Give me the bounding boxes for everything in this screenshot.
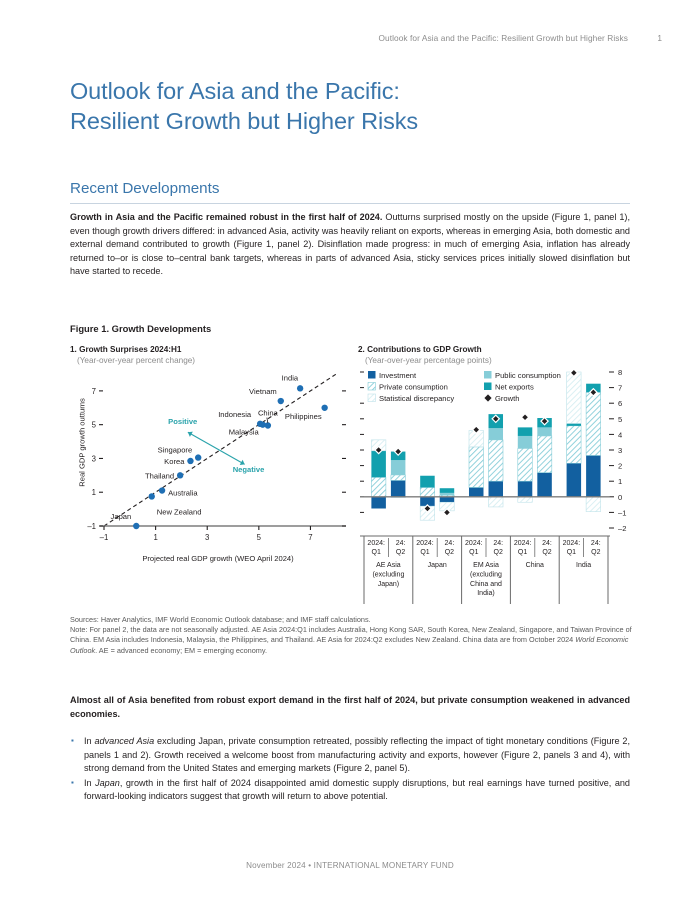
bar-segment [518, 497, 533, 502]
axis-period-label: 24: [542, 540, 552, 547]
svg-text:–2: –2 [618, 524, 626, 533]
axis-group-label: Japan [428, 562, 447, 569]
bar-segment [518, 481, 533, 497]
axis-group-label: India [576, 562, 591, 569]
list-item: In Japan, growth in the first half of 20… [70, 777, 630, 804]
bar-segment [489, 428, 504, 440]
axis-group-label: (excluding [372, 571, 404, 578]
legend-label: Growth [495, 394, 519, 403]
legend-label: Public consumption [495, 371, 561, 380]
running-head: Outlook for Asia and the Pacific: Resili… [0, 33, 700, 47]
svg-text:–1: –1 [618, 508, 626, 517]
bar-segment [567, 426, 582, 463]
legend-swatch [368, 394, 376, 402]
annotation-negative: Negative [233, 465, 265, 474]
axis-period-label: Q1 [518, 549, 527, 556]
document-page: Outlook for Asia and the Pacific: Resili… [0, 0, 700, 906]
svg-text:–1: –1 [87, 522, 96, 531]
scatter-point-label: Korea [164, 457, 185, 466]
axis-period-label: Q1 [420, 549, 429, 556]
page-number: 1 [657, 33, 662, 43]
scatter-point-label: China [258, 409, 279, 418]
bar-segment [489, 481, 504, 497]
axis-period-label: 2024: [514, 540, 532, 547]
axis-group-label: EM Asia [473, 562, 499, 569]
svg-text:0: 0 [618, 493, 622, 502]
legend-swatch [368, 371, 376, 379]
bar-segment [391, 480, 406, 496]
scatter-point-label: Thailand [145, 471, 174, 480]
bar-segment [518, 436, 533, 448]
scatter-point-label: Vietnam [249, 387, 277, 396]
scatter-point-label: New Zealand [157, 507, 202, 516]
svg-text:7: 7 [92, 387, 96, 396]
axis-period-label: Q1 [567, 549, 576, 556]
axis-group-label: Japan) [378, 581, 399, 588]
legend-swatch [368, 383, 376, 391]
bullet2-emphasis: Japan [95, 778, 120, 788]
annotation-positive: Positive [168, 417, 197, 426]
figure-title: Figure 1. Growth Developments [70, 323, 211, 334]
figure-sources: Sources: Haver Analytics, IMF World Econ… [70, 615, 632, 625]
scatter-point-label: Australia [168, 489, 198, 498]
panel2-title: 2. Contributions to GDP Growth [358, 345, 482, 354]
bar-segment [440, 493, 455, 495]
svg-text:6: 6 [618, 399, 622, 408]
legend-swatch [484, 383, 492, 391]
panel2-subtitle: (Year-over-year percentage points) [365, 356, 492, 365]
axis-period-label: 24: [445, 540, 455, 547]
axis-period-label: Q1 [372, 549, 381, 556]
panel2-bar-chart: –2–1012345678InvestmentPublic consumptio… [356, 366, 642, 606]
section-divider [70, 203, 630, 204]
legend-swatch-growth [484, 394, 491, 401]
scatter-point-label: India [282, 373, 299, 382]
bar-segment [440, 488, 455, 493]
chapter-title-line1: Outlook for Asia and the Pacific: [70, 76, 630, 106]
svg-text:5: 5 [618, 415, 622, 424]
bar-segment [391, 460, 406, 475]
figure-note: Note: For panel 2, the data are not seas… [70, 625, 632, 656]
scatter-x-axis-label: Projected real GDP growth (WEO April 202… [98, 554, 338, 563]
svg-text:5: 5 [257, 533, 262, 542]
growth-marker [521, 414, 528, 421]
scatter-plot-svg: –11357–11357JapanNew ZealandAustraliaTha… [68, 366, 356, 571]
bullet2-pre: In [84, 778, 95, 788]
bar-segment [391, 475, 406, 480]
scatter-point-label: Singapore [158, 446, 193, 455]
axis-period-label: 24: [493, 540, 503, 547]
bar-segment [586, 392, 601, 455]
axis-group-label: China and [470, 581, 502, 588]
bar-segment [537, 473, 552, 497]
panel1-subtitle: (Year-over-year percent change) [77, 356, 195, 365]
bar-segment [537, 427, 552, 436]
svg-text:2: 2 [618, 462, 622, 471]
bar-segment [567, 372, 582, 423]
bullet1-emphasis: advanced Asia [94, 736, 154, 746]
bar-segment [420, 476, 435, 488]
bar-segment [371, 497, 386, 509]
bar-segment [567, 463, 582, 497]
svg-text:–1: –1 [100, 533, 109, 542]
bar-segment [567, 423, 582, 425]
chapter-title: Outlook for Asia and the Pacific: Resili… [70, 76, 630, 137]
figure-note-a: Note: For panel 2, the data are not seas… [70, 625, 632, 644]
scatter-point-label: Philippines [285, 412, 322, 421]
svg-text:5: 5 [92, 421, 97, 430]
svg-text:1: 1 [153, 533, 157, 542]
panel1-scatter-chart: –11357–11357JapanNew ZealandAustraliaTha… [68, 366, 356, 571]
axis-period-label: Q2 [542, 549, 551, 556]
svg-text:3: 3 [92, 454, 96, 463]
scatter-point-label: Malaysia [229, 428, 260, 437]
bar-segment [371, 477, 386, 497]
svg-text:1: 1 [92, 488, 96, 497]
bar-segment [489, 497, 504, 507]
legend-swatch [484, 371, 492, 379]
bar-segment [469, 447, 484, 488]
bullet-list: In advanced Asia excluding Japan, privat… [70, 735, 630, 805]
bar-segment [518, 448, 533, 481]
figure-notes: Sources: Haver Analytics, IMF World Econ… [70, 615, 632, 656]
bar-segment [469, 487, 484, 496]
running-head-title: Outlook for Asia and the Pacific: Resili… [378, 33, 628, 43]
svg-text:7: 7 [308, 533, 312, 542]
paragraph-export-demand: Almost all of Asia benefited from robust… [70, 694, 630, 721]
paragraph-recent-developments: Growth in Asia and the Pacific remained … [70, 211, 630, 279]
axis-period-label: Q2 [494, 549, 503, 556]
bar-segment [371, 451, 386, 478]
legend-label: Investment [379, 371, 417, 380]
scatter-y-axis-label: Real GDP growth outturns [78, 373, 87, 513]
axis-period-label: 2024: [367, 540, 385, 547]
svg-text:4: 4 [618, 430, 622, 439]
axis-period-label: 24: [591, 540, 601, 547]
bar-segment [586, 497, 601, 512]
bullet2-post: , growth in the first half of 2024 disap… [84, 778, 630, 802]
bar-segment [537, 436, 552, 473]
paragraph-lead-bold: Growth in Asia and the Pacific remained … [70, 212, 382, 222]
figure-note-b: . AE = advanced economy; EM = emerging e… [95, 646, 267, 655]
section-heading: Recent Developments [70, 180, 630, 197]
stacked-bar-svg: –2–1012345678InvestmentPublic consumptio… [356, 366, 642, 606]
legend-label: Private consumption [379, 383, 448, 392]
bar-segment [440, 497, 455, 502]
chapter-title-line2: Resilient Growth but Higher Risks [70, 106, 630, 136]
axis-period-label: 2024: [465, 540, 483, 547]
scatter-point-label: Japan [111, 512, 132, 521]
svg-text:1: 1 [618, 477, 622, 486]
svg-text:3: 3 [618, 446, 622, 455]
svg-text:8: 8 [618, 368, 622, 377]
axis-group-label: AE Asia [376, 562, 401, 569]
axis-period-label: Q2 [445, 549, 454, 556]
axis-group-label: India) [477, 590, 495, 597]
axis-period-label: 2024: [563, 540, 581, 547]
legend-label: Net exports [495, 383, 534, 392]
list-item: In advanced Asia excluding Japan, privat… [70, 735, 630, 776]
axis-period-label: 24: [396, 540, 406, 547]
bar-segment [489, 440, 504, 481]
axis-group-label: (excluding [470, 571, 502, 578]
page-footer: November 2024 • INTERNATIONAL MONETARY F… [0, 861, 700, 870]
legend-label: Statistical discrepancy [379, 394, 454, 403]
svg-text:3: 3 [205, 533, 209, 542]
axis-group-label: China [526, 562, 544, 569]
bar-segment [586, 455, 601, 496]
axis-period-label: 2024: [416, 540, 434, 547]
scatter-point-label: Indonesia [218, 410, 252, 419]
bullet1-pre: In [84, 736, 94, 746]
bar-segment [420, 487, 435, 496]
axis-period-label: Q2 [591, 549, 600, 556]
bullet1-post: excluding Japan, private consumption ret… [84, 736, 630, 773]
bar-segment [518, 427, 533, 436]
axis-period-label: Q2 [396, 549, 405, 556]
panel1-title: 1. Growth Surprises 2024:H1 [70, 345, 181, 354]
svg-text:7: 7 [618, 384, 622, 393]
axis-period-label: Q1 [469, 549, 478, 556]
